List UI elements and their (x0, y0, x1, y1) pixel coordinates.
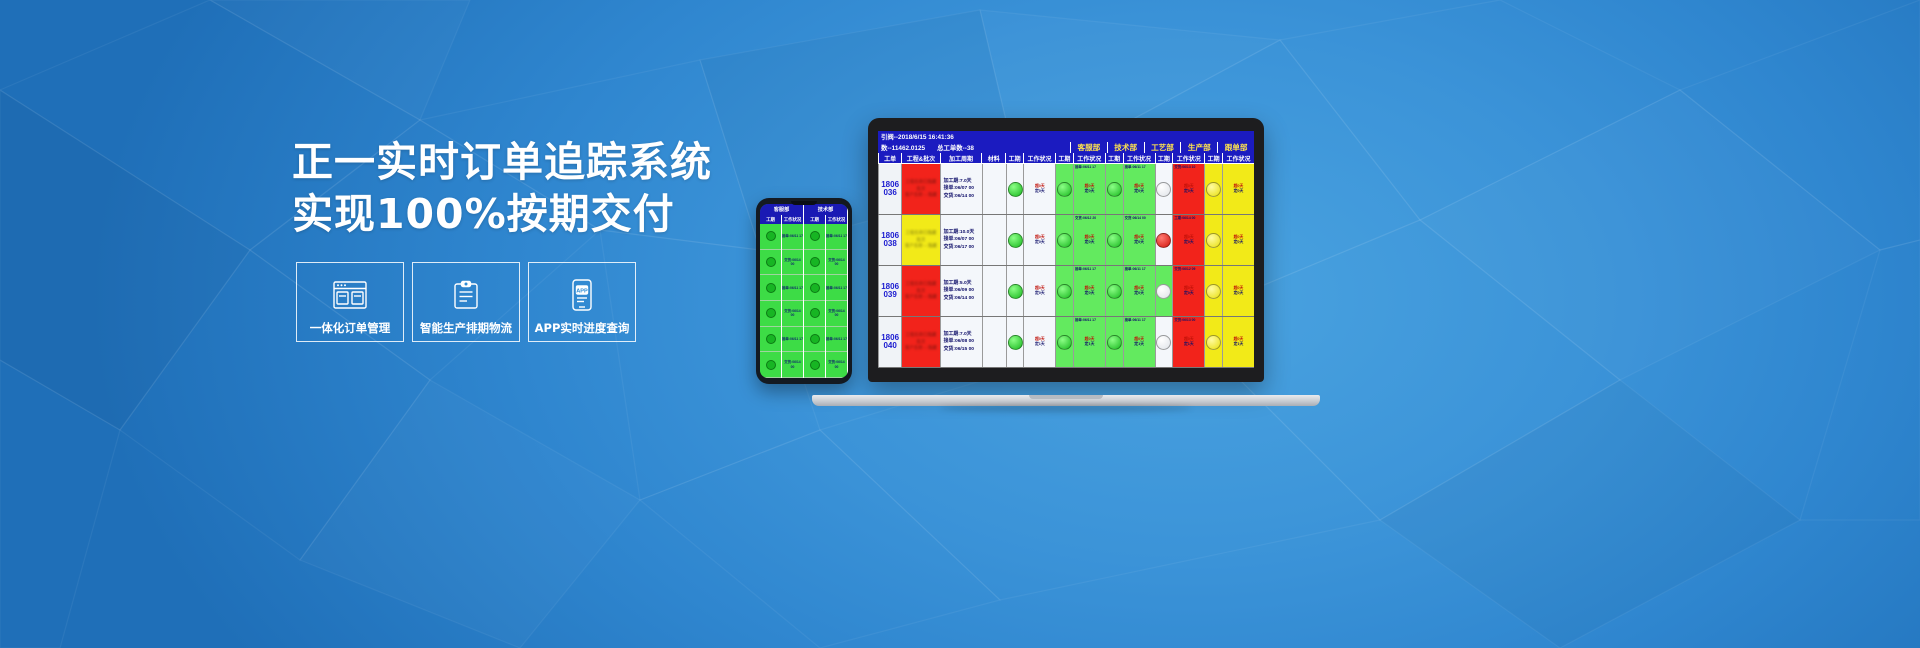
cell-status-4[interactable]: 交货:06/13 10超0天定0天 (1172, 164, 1204, 214)
headline-line-1: 正一实时订单追踪系统 (292, 138, 712, 186)
phone-col-status-1: 工作状况 (782, 215, 804, 224)
cell-term-2[interactable] (1055, 317, 1073, 367)
status-fixed-tag: 定0天 (1085, 291, 1095, 296)
status-fixed-tag: 定0天 (1234, 189, 1244, 194)
status-fixed-tag: 定0天 (1134, 240, 1144, 245)
status-timestamp: 接单:06/11 17 (1075, 267, 1096, 271)
cell-term-5[interactable] (1204, 317, 1222, 367)
cell-cycle[interactable]: 加工期:5.0天接单:06/09 00交货:06/14 00 (940, 266, 982, 316)
phone-cell-text: 交货:06/14 00 (782, 258, 803, 267)
status-lamp-icon (766, 360, 776, 370)
phone-cell-text: 接单:06/11 17 (782, 337, 803, 341)
status-timestamp: 接单:06/11 17 (1075, 318, 1096, 322)
cycle-duration: 加工期:10.0天 (944, 229, 975, 236)
status-timestamp: 交货:06/13 10 (1174, 165, 1195, 169)
status-lamp-icon (1156, 284, 1171, 299)
cell-cycle[interactable]: 加工期:7.0天接单:06/07 00交货:06/14 00 (940, 164, 982, 214)
dashboard-table-body: 1806036工程名称已隐藏批次客户名称 -- 隐藏加工期:7.0天接单:06/… (878, 164, 1254, 368)
status-timestamp: 交货:06/12 20 (1075, 216, 1096, 220)
status-fixed-tag: 定0天 (1234, 291, 1244, 296)
cell-work-order[interactable]: 1806036 (878, 164, 901, 214)
dept-header-production: 生产部 (1180, 142, 1217, 153)
feature-list: 一体化订单管理 智能生产排期物流 (296, 262, 636, 342)
status-fixed-tag: 定0天 (1035, 240, 1045, 245)
cell-material[interactable] (982, 215, 1006, 265)
cell-term-4[interactable] (1155, 317, 1173, 367)
dashboard-top-bar: 引阀--2018/6/15 16:41:36 (878, 131, 1254, 142)
cycle-duration: 加工期:7.0天 (944, 331, 972, 338)
phone-cell-text: 交货:06/14 00 (782, 309, 803, 318)
work-order-suffix: 040 (883, 342, 896, 350)
cell-term-1[interactable] (1006, 164, 1024, 214)
status-fixed-tag: 定1天 (1184, 342, 1194, 347)
status-fixed-tag: 定0天 (1184, 291, 1194, 296)
project-text: 工程名称已隐藏批次客户名称 -- 隐藏 (905, 281, 937, 301)
status-fixed-tag: 定0天 (1134, 291, 1144, 296)
table-row[interactable]: 1806036工程名称已隐藏批次客户名称 -- 隐藏加工期:7.0天接单:06/… (878, 164, 1254, 215)
phone-cell[interactable]: 交货:06/14 00 (782, 301, 803, 327)
phone-cell-text: 接单:06/11 17 (782, 234, 803, 238)
cell-work-order[interactable]: 1806039 (878, 266, 901, 316)
project-text: 工程名称已隐藏批次客户名称 -- 隐藏 (905, 230, 937, 250)
status-fixed-tag: 定0天 (1234, 240, 1244, 245)
cycle-delivery: 交货:06/17 00 (944, 244, 974, 251)
phone-cell[interactable] (760, 250, 781, 276)
phone-dept-customer-service: 客服部 (760, 204, 804, 215)
phone-cell[interactable]: 接单:06/11 17 (782, 275, 803, 301)
dashboard-department-headers: 客服部 技术部 工艺部 生产部 跟单部 (1070, 142, 1254, 153)
cell-term-3[interactable] (1105, 164, 1123, 214)
status-fixed-tag: 定1天 (1035, 342, 1045, 347)
table-row[interactable]: 1806039工程名称已隐藏批次客户名称 -- 隐藏加工期:5.0天接单:06/… (878, 266, 1254, 317)
cell-status-5[interactable]: 超0天定0天 (1222, 215, 1254, 265)
column-header-status-3: 工作状况 (1123, 153, 1155, 164)
status-fixed-tag: 定0天 (1085, 240, 1095, 245)
phone-cell[interactable] (760, 352, 781, 378)
cell-term-4[interactable] (1155, 266, 1173, 316)
cell-term-1[interactable] (1006, 317, 1024, 367)
status-lamp-icon (1057, 182, 1072, 197)
cell-term-2[interactable] (1055, 164, 1073, 214)
dept-header-process: 工艺部 (1144, 142, 1181, 153)
status-fixed-tag: 定0天 (1184, 189, 1194, 194)
column-header-status-2: 工作状况 (1073, 153, 1105, 164)
dashboard-second-bar: 数--11462.0125 总工单数--38 客服部 技术部 工艺部 生产部 跟… (878, 142, 1254, 153)
dashboard-time-label: 引阀--2018/6/15 16:41:36 (881, 132, 954, 141)
cell-status-5[interactable]: 超0天定0天 (1222, 266, 1254, 316)
column-header-status-5: 工作状况 (1222, 153, 1254, 164)
cycle-duration: 加工期:7.0天 (944, 178, 972, 185)
cycle-duration: 加工期:5.0天 (944, 280, 972, 287)
headline-block: 正一实时订单追踪系统 实现100%按期交付 (292, 136, 732, 241)
phone-cell[interactable]: 接单:06/11 17 (782, 224, 803, 250)
cell-status-4[interactable]: 交货:06/13 00超0天定1天 (1172, 317, 1204, 367)
laptop-shadow (940, 405, 1192, 412)
status-lamp-icon (1057, 335, 1072, 350)
phone-cell[interactable] (760, 275, 781, 301)
cell-status-4[interactable]: 工期:06/14 00超0天定0天 (1172, 215, 1204, 265)
column-header-material: 材料 (981, 153, 1005, 164)
cycle-received: 接单:06/07 00 (944, 185, 974, 192)
column-header-term-3: 工期 (1105, 153, 1123, 164)
cycle-received: 接单:06/08 00 (944, 338, 974, 345)
column-header-term-4: 工期 (1155, 153, 1173, 164)
cell-status-2[interactable]: 交货:06/12 20超0天定0天 (1073, 215, 1105, 265)
cell-cycle[interactable]: 加工期:10.0天接单:06/07 00交货:06/17 00 (940, 215, 982, 265)
column-header-work-order: 工单 (878, 153, 901, 164)
status-lamp-icon (1206, 182, 1221, 197)
column-header-term-1: 工期 (1005, 153, 1023, 164)
status-lamp-icon (1008, 284, 1023, 299)
status-lamp-icon (1107, 335, 1122, 350)
cell-status-3[interactable]: 接单:06/11 17超0天定0天 (1123, 164, 1155, 214)
phone-app-icon: APP (570, 277, 594, 313)
column-header-project: 工程&批次 (901, 153, 939, 164)
status-fixed-tag: 定1天 (1085, 342, 1095, 347)
cell-term-2[interactable] (1055, 215, 1073, 265)
status-lamp-icon (1008, 335, 1023, 350)
status-lamp-icon (1206, 284, 1221, 299)
status-lamp-icon (1156, 182, 1171, 197)
status-fixed-tag: 定1天 (1134, 342, 1144, 347)
status-timestamp: 交货:06/13 00 (1174, 318, 1195, 322)
phone-column-status-1: 接单:06/11 17 交货:06/14 00 接单:06/11 17 交货:0… (782, 224, 804, 378)
cell-status-3[interactable]: 交货:06/14 00超0天定0天 (1123, 215, 1155, 265)
dashboard-count-group: 数--11462.0125 总工单数--38 (878, 143, 1070, 152)
cell-work-order[interactable]: 1806040 (878, 317, 901, 367)
feature-card-app-progress[interactable]: APP APP实时进度查询 (528, 262, 636, 342)
phone-cell-text: 接单:06/11 17 (782, 286, 803, 290)
cell-status-3[interactable]: 接单:06/11 17超0天定0天 (1123, 266, 1155, 316)
phone-cell-text: 交货:06/14 00 (782, 360, 803, 369)
cell-status-1[interactable]: 超0天定0天 (1023, 215, 1055, 265)
cell-status-1[interactable]: 超0天定1天 (1023, 317, 1055, 367)
laptop-mockup: 引阀--2018/6/15 16:41:36 数--11462.0125 总工单… (812, 118, 1320, 418)
cell-status-5[interactable]: 超0天定1天 (1222, 317, 1254, 367)
cell-term-3[interactable] (1105, 317, 1123, 367)
svg-text:APP: APP (576, 289, 588, 295)
cell-status-4[interactable]: 交货:06/12 09超0天定0天 (1172, 266, 1204, 316)
cell-term-1[interactable] (1006, 215, 1024, 265)
status-lamp-icon (766, 257, 776, 267)
phone-cell[interactable]: 接单:06/11 17 (782, 327, 803, 353)
status-lamp-icon (1057, 284, 1072, 299)
dept-header-merchandising: 跟单部 (1217, 142, 1254, 153)
cell-term-3[interactable] (1105, 215, 1123, 265)
status-timestamp: 工期:06/14 00 (1174, 216, 1195, 220)
cell-term-4[interactable] (1155, 215, 1173, 265)
status-lamp-icon (1008, 182, 1023, 197)
status-fixed-tag: 定0天 (1035, 291, 1045, 296)
dept-header-technology: 技术部 (1107, 142, 1144, 153)
status-lamp-icon (1107, 233, 1122, 248)
status-timestamp: 接单:06/11 17 (1125, 267, 1146, 271)
table-row[interactable]: 1806040工程名称已隐藏批次客户名称 -- 隐藏加工期:7.0天接单:06/… (878, 317, 1254, 368)
work-order-suffix: 036 (883, 189, 896, 197)
dashboard-column-headers: 工单 工程&批次 加工周期 材料 工期 工作状况 工期 工作状况 工期 工作状况… (878, 153, 1254, 164)
cell-status-5[interactable]: 超0天定0天 (1222, 164, 1254, 214)
status-timestamp: 交货:06/12 09 (1174, 267, 1195, 271)
cycle-received: 接单:06/07 00 (944, 236, 974, 243)
status-lamp-icon (1057, 233, 1072, 248)
status-lamp-icon (1107, 284, 1122, 299)
status-fixed-tag: 定1天 (1234, 342, 1244, 347)
cell-work-order[interactable]: 1806038 (878, 215, 901, 265)
headline-line-2: 实现100%按期交付 (292, 188, 732, 240)
phone-col-term-1: 工期 (760, 215, 782, 224)
status-fixed-tag: 定0天 (1035, 189, 1045, 194)
cell-status-1[interactable]: 超0天定0天 (1023, 164, 1055, 214)
status-fixed-tag: 定0天 (1085, 189, 1095, 194)
column-header-cycle: 加工周期 (940, 153, 982, 164)
status-lamp-icon (766, 308, 776, 318)
status-fixed-tag: 定0天 (1134, 189, 1144, 194)
cell-status-2[interactable]: 接单:06/11 17超0天定0天 (1073, 164, 1105, 214)
cell-term-1[interactable] (1006, 266, 1024, 316)
cell-status-1[interactable]: 超0天定0天 (1023, 266, 1055, 316)
dashboard-count-label: 数--11462.0125 (881, 143, 925, 152)
cell-project[interactable]: 工程名称已隐藏批次客户名称 -- 隐藏 (901, 215, 939, 265)
status-lamp-icon (1206, 335, 1221, 350)
cycle-delivery: 交货:06/14 00 (944, 193, 974, 200)
feature-label-app-progress: APP实时进度查询 (535, 320, 630, 336)
status-timestamp: 交货:06/14 00 (1125, 216, 1146, 220)
cell-cycle[interactable]: 加工期:7.0天接单:06/08 00交货:06/15 00 (940, 317, 982, 367)
column-header-status-1: 工作状况 (1023, 153, 1055, 164)
phone-cell[interactable]: 交货:06/14 00 (782, 352, 803, 378)
status-lamp-icon (766, 334, 776, 344)
phone-column-term-1 (760, 224, 782, 378)
dashboard-total-label: 总工单数--38 (937, 143, 974, 152)
status-timestamp: 接单:06/11 17 (1125, 165, 1146, 169)
table-row[interactable]: 1806038工程名称已隐藏批次客户名称 -- 隐藏加工期:10.0天接单:06… (878, 215, 1254, 266)
cell-status-2[interactable]: 接单:06/11 17超0天定0天 (1073, 266, 1105, 316)
laptop-screen: 引阀--2018/6/15 16:41:36 数--11462.0125 总工单… (878, 131, 1254, 368)
cell-term-5[interactable] (1204, 215, 1222, 265)
status-lamp-icon (1156, 335, 1171, 350)
cell-term-5[interactable] (1204, 266, 1222, 316)
cycle-received: 接单:06/09 00 (944, 287, 974, 294)
cell-term-2[interactable] (1055, 266, 1073, 316)
cell-material[interactable] (982, 317, 1006, 367)
status-timestamp: 接单:06/11 17 (1075, 165, 1096, 169)
phone-cell[interactable] (760, 301, 781, 327)
status-fixed-tag: 定0天 (1184, 240, 1194, 245)
cell-project[interactable]: 工程名称已隐藏批次客户名称 -- 隐藏 (901, 266, 939, 316)
feature-card-order-management[interactable]: 一体化订单管理 (296, 262, 404, 342)
dept-header-customer-service: 客服部 (1070, 142, 1107, 153)
status-lamp-icon (1156, 233, 1171, 248)
work-order-suffix: 039 (883, 291, 896, 299)
cell-term-4[interactable] (1155, 164, 1173, 214)
cell-status-2[interactable]: 接单:06/11 17超0天定1天 (1073, 317, 1105, 367)
status-lamp-icon (766, 283, 776, 293)
cell-project[interactable]: 工程名称已隐藏批次客户名称 -- 隐藏 (901, 164, 939, 214)
status-lamp-icon (1008, 233, 1023, 248)
cell-term-3[interactable] (1105, 266, 1123, 316)
window-list-icon (333, 277, 367, 313)
column-header-term-5: 工期 (1204, 153, 1222, 164)
laptop-lid: 引阀--2018/6/15 16:41:36 数--11462.0125 总工单… (868, 118, 1264, 382)
cell-status-3[interactable]: 接单:06/11 17超0天定1天 (1123, 317, 1155, 367)
page-title: 正一实时订单追踪系统 实现100%按期交付 (292, 136, 732, 241)
feature-card-production-scheduling[interactable]: 智能生产排期物流 (412, 262, 520, 342)
column-header-status-4: 工作状况 (1172, 153, 1204, 164)
dashboard: 引阀--2018/6/15 16:41:36 数--11462.0125 总工单… (878, 131, 1254, 368)
banner-stage: 正一实时订单追踪系统 实现100%按期交付 一体化订单管理 (0, 0, 1920, 648)
project-text: 工程名称已隐藏批次客户名称 -- 隐藏 (905, 332, 937, 352)
status-lamp-icon (766, 231, 776, 241)
cell-term-5[interactable] (1204, 164, 1222, 214)
phone-cell[interactable] (760, 327, 781, 353)
cycle-delivery: 交货:06/14 00 (944, 295, 974, 302)
status-lamp-icon (1107, 182, 1122, 197)
clipboard-icon (451, 277, 481, 313)
feature-label-order-management: 一体化订单管理 (310, 320, 391, 336)
project-text: 工程名称已隐藏批次客户名称 -- 隐藏 (905, 179, 937, 199)
column-header-term-2: 工期 (1055, 153, 1073, 164)
status-lamp-icon (1206, 233, 1221, 248)
cell-material[interactable] (982, 164, 1006, 214)
status-timestamp: 接单:06/11 17 (1125, 318, 1146, 322)
phone-cell[interactable]: 交货:06/14 00 (782, 250, 803, 276)
feature-label-production-scheduling: 智能生产排期物流 (420, 320, 512, 336)
cell-project[interactable]: 工程名称已隐藏批次客户名称 -- 隐藏 (901, 317, 939, 367)
phone-cell[interactable] (760, 224, 781, 250)
cell-material[interactable] (982, 266, 1006, 316)
work-order-suffix: 038 (883, 240, 896, 248)
cycle-delivery: 交货:06/15 00 (944, 346, 974, 353)
